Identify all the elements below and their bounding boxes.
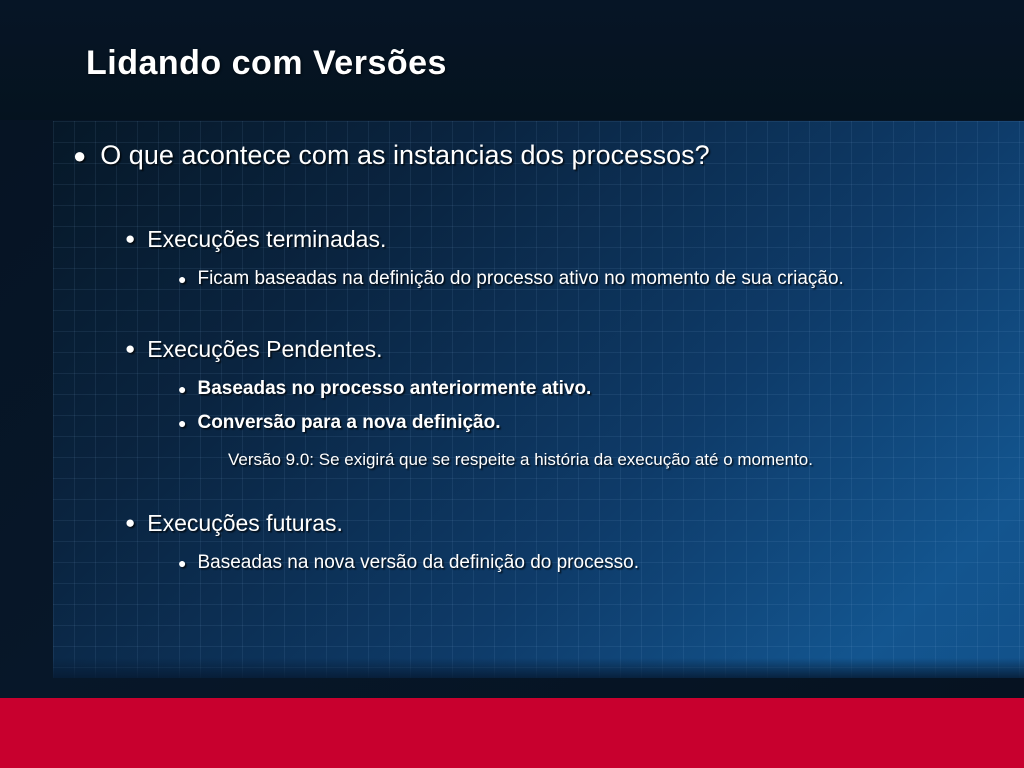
list-item-label: O que acontece com as instancias dos pro… bbox=[100, 139, 709, 171]
list-item: ● O que acontece com as instancias dos p… bbox=[73, 139, 710, 171]
presentation-slide: Lidando com Versões ● O que acontece com… bbox=[0, 0, 1024, 768]
page-title: Lidando com Versões bbox=[86, 44, 447, 83]
list-item: ● Baseadas na nova versão da definição d… bbox=[178, 551, 978, 576]
title-bar: Lidando com Versões bbox=[0, 0, 1024, 120]
bullet-marker-icon: ● bbox=[178, 416, 186, 430]
bullet-marker-icon: ● bbox=[73, 145, 86, 167]
footer-bar: II ENCONTRO BRASIL G ENE X US ™ bbox=[0, 698, 1024, 768]
content-panel: ● O que acontece com as instancias dos p… bbox=[53, 121, 1024, 678]
list-item-label: Baseadas no processo anteriormente ativo… bbox=[197, 377, 591, 402]
list-item: ● Ficam baseadas na definição do process… bbox=[178, 267, 978, 292]
list-item-label: Conversão para a nova definição. bbox=[197, 411, 500, 436]
list-item-note: Versão 9.0: Se exigirá que se respeite a… bbox=[228, 449, 928, 472]
list-item-label: Execuções futuras. bbox=[147, 509, 343, 537]
list-item: ● Baseadas no processo anteriormente ati… bbox=[178, 377, 978, 402]
bullet-list: ● O que acontece com as instancias dos p… bbox=[53, 121, 1024, 678]
list-item: ● Execuções futuras. bbox=[125, 509, 343, 537]
list-item-label: Execuções Pendentes. bbox=[147, 335, 382, 363]
bullet-marker-icon: ● bbox=[178, 556, 186, 570]
list-item-label: Execuções terminadas. bbox=[147, 225, 386, 253]
list-item: ● Conversão para a nova definição. bbox=[178, 411, 978, 436]
bullet-marker-icon: ● bbox=[125, 514, 135, 531]
bullet-marker-icon: ● bbox=[125, 230, 135, 247]
list-item-label: Baseadas na nova versão da definição do … bbox=[197, 551, 639, 576]
list-item: ● Execuções Pendentes. bbox=[125, 335, 383, 363]
bullet-marker-icon: ● bbox=[178, 382, 186, 396]
list-item-label: Ficam baseadas na definição do processo … bbox=[197, 267, 843, 292]
list-item: ● Execuções terminadas. bbox=[125, 225, 386, 253]
bullet-marker-icon: ● bbox=[178, 272, 186, 286]
bullet-marker-icon: ● bbox=[125, 340, 135, 357]
